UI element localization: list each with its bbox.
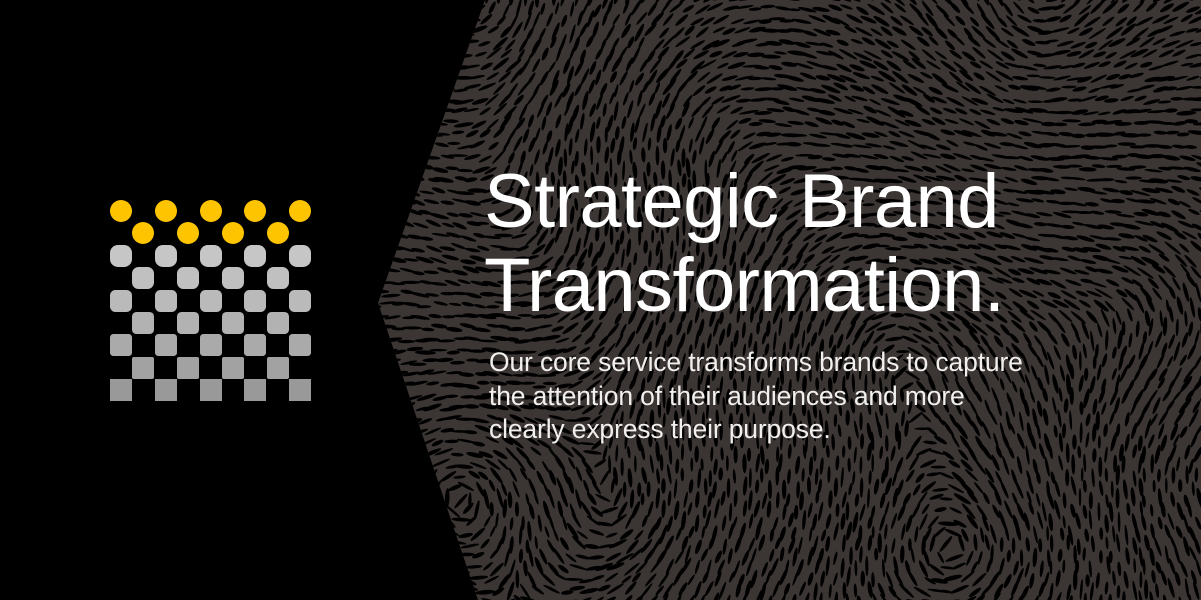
logo-cell: [132, 267, 154, 289]
logo-cell: [267, 222, 289, 244]
logo-cell: [267, 312, 289, 334]
logo-cell: [222, 222, 244, 244]
logo-cell: [200, 290, 222, 312]
logo-cell: [244, 245, 266, 267]
slide-canvas: Strategic Brand Transformation. Our core…: [0, 0, 1201, 600]
logo-cell: [200, 245, 222, 267]
logo-cell: [244, 334, 266, 356]
page-title: Strategic Brand Transformation.: [484, 160, 1104, 328]
logo-cell: [200, 200, 222, 222]
logo-cell: [177, 222, 199, 244]
logo-cell: [132, 312, 154, 334]
logo-cell: [289, 290, 311, 312]
logo-cell: [200, 379, 222, 401]
logo-cell: [289, 379, 311, 401]
logo-cell: [110, 290, 132, 312]
logo-cell: [244, 379, 266, 401]
logo-cell: [177, 267, 199, 289]
logo-cell: [155, 379, 177, 401]
subtitle-paragraph: Our core service transforms brands to ca…: [489, 346, 1119, 447]
logo-cell: [110, 379, 132, 401]
logo-cell: [289, 200, 311, 222]
logo-cell: [267, 267, 289, 289]
logo-cell: [155, 334, 177, 356]
logo-cell: [244, 290, 266, 312]
logo-cell: [155, 245, 177, 267]
logo-cell: [267, 357, 289, 379]
logo-cell: [110, 334, 132, 356]
logo-cell: [132, 357, 154, 379]
checkerboard-dot-grid-logo: [110, 200, 312, 402]
logo-cell: [222, 357, 244, 379]
logo-cell: [155, 290, 177, 312]
logo-cell: [244, 200, 266, 222]
logo-cell: [132, 222, 154, 244]
logo-cell: [155, 200, 177, 222]
logo-cell: [222, 312, 244, 334]
logo-cell: [222, 267, 244, 289]
logo-cell: [200, 334, 222, 356]
logo-cell: [289, 245, 311, 267]
logo-cell: [110, 200, 132, 222]
logo-cell: [110, 245, 132, 267]
logo-cell: [289, 334, 311, 356]
logo-cell: [177, 357, 199, 379]
logo-cell: [177, 312, 199, 334]
